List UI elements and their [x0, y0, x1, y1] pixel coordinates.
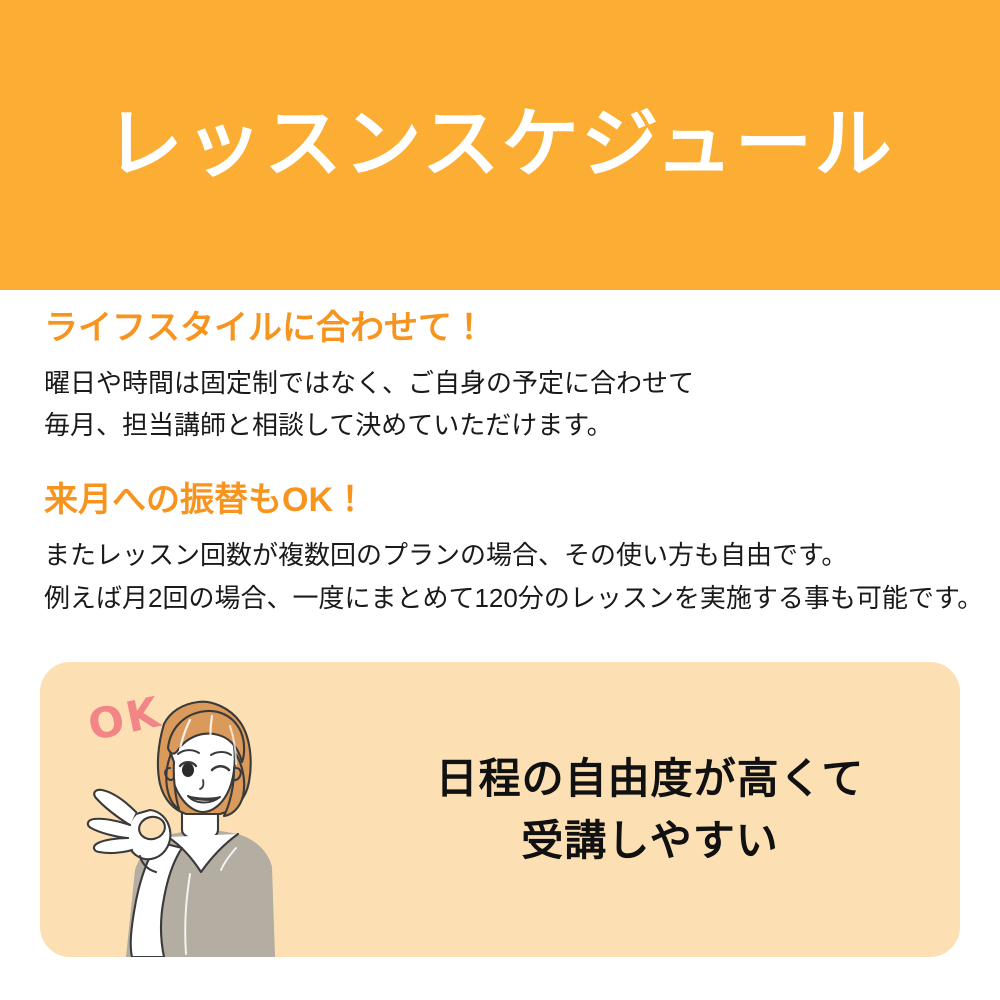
page-title: レッスンスケジュール — [106, 107, 895, 183]
section-body-lifestyle: 曜日や時間は固定制ではなく、ご自身の予定に合わせて 毎月、担当講師と相談して決め… — [44, 362, 974, 446]
section-body-carryover: またレッスン回数が複数回のプランの場合、その使い方も自由です。 例えば月2回の場… — [44, 534, 974, 618]
woman-ok-gesture-illustration: OK — [40, 662, 340, 957]
caption-line: 受講しやすい — [521, 815, 779, 866]
body-line: またレッスン回数が複数回のプランの場合、その使い方も自由です。 — [44, 534, 974, 576]
card-caption: 日程の自由度が高くて 受講しやすい — [340, 662, 960, 957]
section-carryover: 来月への振替もOK！ またレッスン回数が複数回のプランの場合、その使い方も自由で… — [44, 480, 974, 618]
body-line: 毎月、担当講師と相談して決めていただけます。 — [44, 404, 974, 446]
header-banner: レッスンスケジュール — [0, 0, 1000, 290]
caption-line: 日程の自由度が高くて — [436, 753, 865, 804]
body-line: 例えば月2回の場合、一度にまとめて120分のレッスンを実施する事も可能です。 — [44, 577, 974, 619]
infographic-page: レッスンスケジュール ライフスタイルに合わせて！ 曜日や時間は固定制ではなく、ご… — [0, 0, 1000, 1000]
body-line: 曜日や時間は固定制ではなく、ご自身の予定に合わせて — [44, 362, 974, 404]
section-lifestyle: ライフスタイルに合わせて！ 曜日や時間は固定制ではなく、ご自身の予定に合わせて … — [44, 308, 974, 446]
content-area: ライフスタイルに合わせて！ 曜日や時間は固定制ではなく、ご自身の予定に合わせて … — [44, 308, 974, 619]
section-heading-lifestyle: ライフスタイルに合わせて！ — [44, 308, 974, 348]
highlight-card: OK 日程の自由度が高くて 受講しやすい — [40, 662, 960, 957]
section-heading-carryover: 来月への振替もOK！ — [44, 480, 974, 520]
